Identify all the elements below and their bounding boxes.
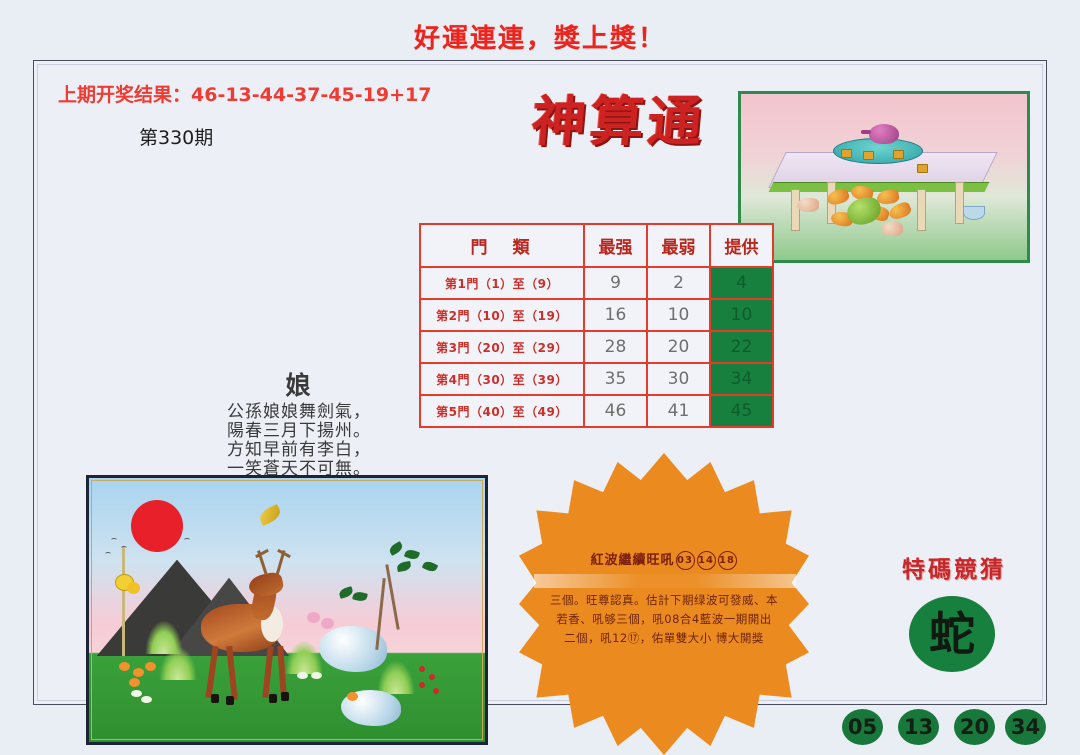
number-ball: 05 xyxy=(842,709,883,745)
berry-shape xyxy=(433,688,439,694)
table-row: 第2門（10）至（19） 16 10 10 xyxy=(420,299,773,331)
poem-line: 公孫娘娘舞劍氣， xyxy=(184,403,414,422)
starburst-ball: 14 xyxy=(697,551,716,570)
cell-weak: 30 xyxy=(647,363,710,395)
cell-strong: 46 xyxy=(584,395,647,427)
cell-provide: 10 xyxy=(710,299,773,331)
lottery-poster-page: 好運連連，獎上獎！ 上期开奖结果：46-13-44-37-45-19+17 第3… xyxy=(0,0,1080,754)
bird-flock-shape xyxy=(121,546,127,550)
flower-shape xyxy=(119,662,130,671)
table-teapot-cricket-picture xyxy=(738,91,1030,263)
grass-shape xyxy=(285,640,323,674)
table-leg xyxy=(791,189,800,231)
flower-shape xyxy=(347,692,358,701)
poem-title: 娘 xyxy=(184,366,414,402)
special-code-guess-title: 特碼競猜 xyxy=(854,550,1054,584)
grass-shape xyxy=(377,660,415,694)
poem-line: 陽春三月下揚州。 xyxy=(184,422,414,441)
last-draw-numbers: 46-13-44-37-45-19+17 xyxy=(191,84,431,106)
starburst-title-text: 紅波繼續旺吼 xyxy=(590,553,674,568)
cell-provide: 45 xyxy=(710,395,773,427)
bird-flock-shape xyxy=(111,538,117,542)
table-leg xyxy=(955,182,964,224)
bird-flock-shape xyxy=(105,552,111,556)
page-banner-title: 好運連連，獎上獎！ xyxy=(0,18,1080,55)
starburst-line: 二個，吼12⑰，佑單雙大小 博大開獎 xyxy=(528,629,800,648)
deer-hoof-shape xyxy=(211,694,219,703)
teacup-shape xyxy=(841,149,852,158)
table-header-weakest: 最弱 xyxy=(647,224,710,267)
lantern-shape xyxy=(127,582,140,594)
table-leg xyxy=(917,189,926,231)
cell-weak: 20 xyxy=(647,331,710,363)
cell-gate: 第2門（10）至（19） xyxy=(420,299,584,331)
flower-shape xyxy=(145,662,156,671)
starburst-title: 紅波繼續旺吼031418 xyxy=(519,549,809,570)
teacup-shape xyxy=(917,164,928,173)
flower-shape xyxy=(129,678,140,687)
cell-gate: 第3門（20）至（29） xyxy=(420,331,584,363)
table-header-category: 門 類 xyxy=(420,224,584,267)
mouse-shape xyxy=(797,198,819,212)
cell-strong: 35 xyxy=(584,363,647,395)
pebble-shape xyxy=(311,672,322,679)
berry-shape xyxy=(429,674,435,680)
number-ball: 34 xyxy=(1005,709,1046,745)
teacup-shape xyxy=(863,151,874,160)
bird-flock-shape xyxy=(184,538,190,542)
brand-logo: 神算通 xyxy=(501,87,737,157)
number-ball: 20 xyxy=(954,709,995,745)
issue-number: 第330期 xyxy=(139,123,213,150)
starburst-body: 三個。旺尊認真。估計下期绿波可發威、本 若香、吼够三個，吼08合4藍波一期開出 … xyxy=(528,591,800,648)
berry-shape xyxy=(419,682,425,688)
cell-strong: 9 xyxy=(584,267,647,299)
table-header-provide: 提供 xyxy=(710,224,773,267)
pebble-shape xyxy=(297,672,308,679)
poem-block: 娘 公孫娘娘舞劍氣， 陽春三月下揚州。 方知早前有李白， 一笑蒼天不可無。 xyxy=(184,366,414,479)
pebble-shape xyxy=(141,696,152,703)
zodiac-badge: 蛇 xyxy=(909,596,995,672)
pole-shape xyxy=(122,546,125,656)
cell-provide: 34 xyxy=(710,363,773,395)
cell-provide: 4 xyxy=(710,267,773,299)
table-row: 第1門（1）至（9） 9 2 4 xyxy=(420,267,773,299)
table-row: 第3門（20）至（29） 28 20 22 xyxy=(420,331,773,363)
gate-statistics-table: 門 類 最强 最弱 提供 第1門（1）至（9） 9 2 4 第2門（10）至（1… xyxy=(419,223,774,428)
deer-hoof-shape xyxy=(281,692,289,701)
blossom-shape xyxy=(321,618,334,629)
cell-weak: 2 xyxy=(647,267,710,299)
mouse-shape xyxy=(881,222,903,236)
cell-weak: 10 xyxy=(647,299,710,331)
number-ball: 13 xyxy=(898,709,939,745)
last-draw-label: 上期开奖结果： xyxy=(58,84,191,106)
teapot-shape xyxy=(869,124,899,144)
table-header-row: 門 類 最强 最弱 提供 xyxy=(420,224,773,267)
cell-strong: 28 xyxy=(584,331,647,363)
grass-shape xyxy=(159,646,197,680)
starburst-line: 若香、吼够三個，吼08合4藍波一期開出 xyxy=(528,610,800,629)
sun-shape xyxy=(131,500,183,552)
teacup-shape xyxy=(893,150,904,159)
cell-strong: 16 xyxy=(584,299,647,331)
deer-mountain-sun-picture xyxy=(86,475,488,745)
cell-gate: 第5門（40）至（49） xyxy=(420,395,584,427)
deer-hoof-shape xyxy=(226,696,234,705)
table-row: 第4門（30）至（39） 35 30 34 xyxy=(420,363,773,395)
starburst-ball: 18 xyxy=(718,551,737,570)
last-draw-result: 上期开奖结果：46-13-44-37-45-19+17 xyxy=(58,80,431,107)
table-row: 第5門（40）至（49） 46 41 45 xyxy=(420,395,773,427)
starburst-line: 三個。旺尊認真。估計下期绿波可發威、本 xyxy=(528,591,800,610)
cell-provide: 22 xyxy=(710,331,773,363)
deer-hoof-shape xyxy=(269,694,277,703)
blossom-shape xyxy=(307,612,320,623)
table-header-strongest: 最强 xyxy=(584,224,647,267)
poem-line: 方知早前有李白， xyxy=(184,441,414,460)
cell-gate: 第4門（30）至（39） xyxy=(420,363,584,395)
gate-statistics-table-wrapper: 門 類 最强 最弱 提供 第1門（1）至（9） 9 2 4 第2門（10）至（1… xyxy=(419,223,774,428)
flower-shape xyxy=(133,668,144,677)
guess-number-balls: 05 13 20 34 xyxy=(842,709,1042,747)
starburst-ball: 03 xyxy=(676,551,695,570)
bowl-shape xyxy=(963,206,985,220)
main-card: 上期开奖结果：46-13-44-37-45-19+17 第330期 神算通 xyxy=(33,60,1047,705)
cell-weak: 41 xyxy=(647,395,710,427)
berry-shape xyxy=(419,666,425,672)
cell-gate: 第1門（1）至（9） xyxy=(420,267,584,299)
pebble-shape xyxy=(131,690,142,697)
